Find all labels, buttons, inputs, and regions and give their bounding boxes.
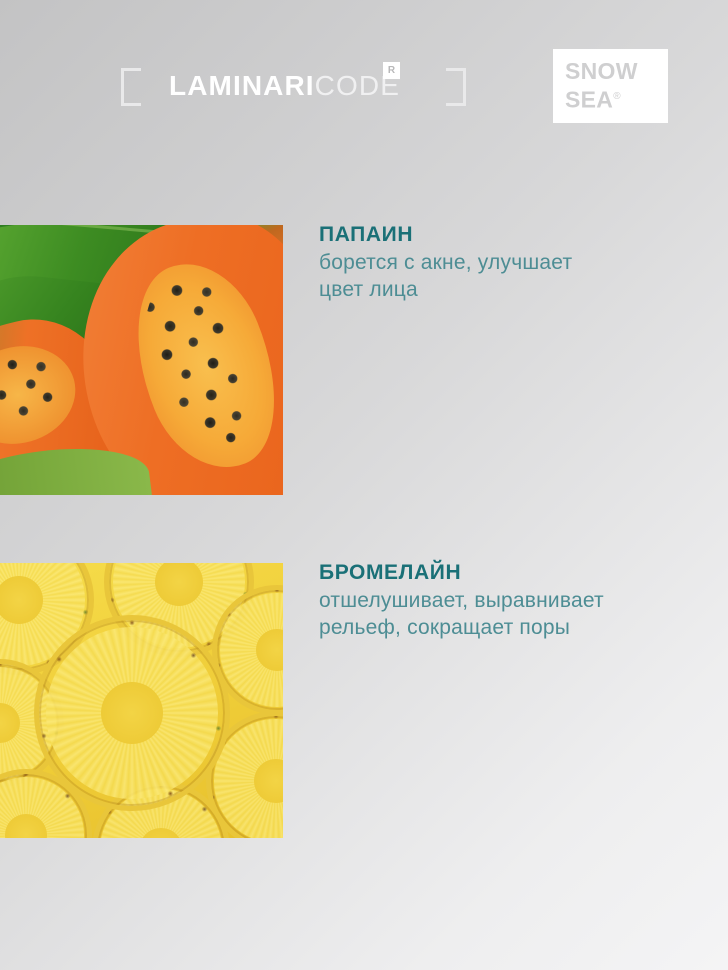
bracket-left-icon [121,68,141,106]
ingredient-bromelain-text: БРОМЕЛАЙН отшелушивает, выравнивает рель… [319,560,619,641]
bracket-right-icon [446,68,466,106]
pineapple-slice-center [34,615,230,811]
ingredient-papain-description: борется с акне, улучшает цвет лица [319,249,619,303]
ingredient-papain-title: ПАПАИН [319,222,619,248]
snow-sea-logo-text: SNOW SEA® [565,59,638,113]
snow-sea-logo: SNOW SEA® [553,49,668,123]
registered-badge-icon: R [383,62,400,79]
pineapple-photo [0,563,283,838]
header: LAMINARICODE R SNOW SEA® [0,0,728,170]
ingredient-bromelain-description: отшелушивает, выравнивает рельеф, сокращ… [319,587,619,641]
ingredient-papain-text: ПАПАИН борется с акне, улучшает цвет лиц… [319,222,619,303]
snow-sea-line2: SEA [565,87,613,113]
registered-mark-icon: ® [613,91,621,102]
brand-wordmark-bold: LAMINARI [169,70,315,101]
ingredient-bromelain-title: БРОМЕЛАЙН [319,560,619,586]
snow-sea-line1: SNOW [565,58,638,84]
laminaricode-brand-lockup: LAMINARICODE [121,60,466,112]
papaya-photo [0,225,283,495]
brand-wordmark: LAMINARICODE [169,64,400,108]
